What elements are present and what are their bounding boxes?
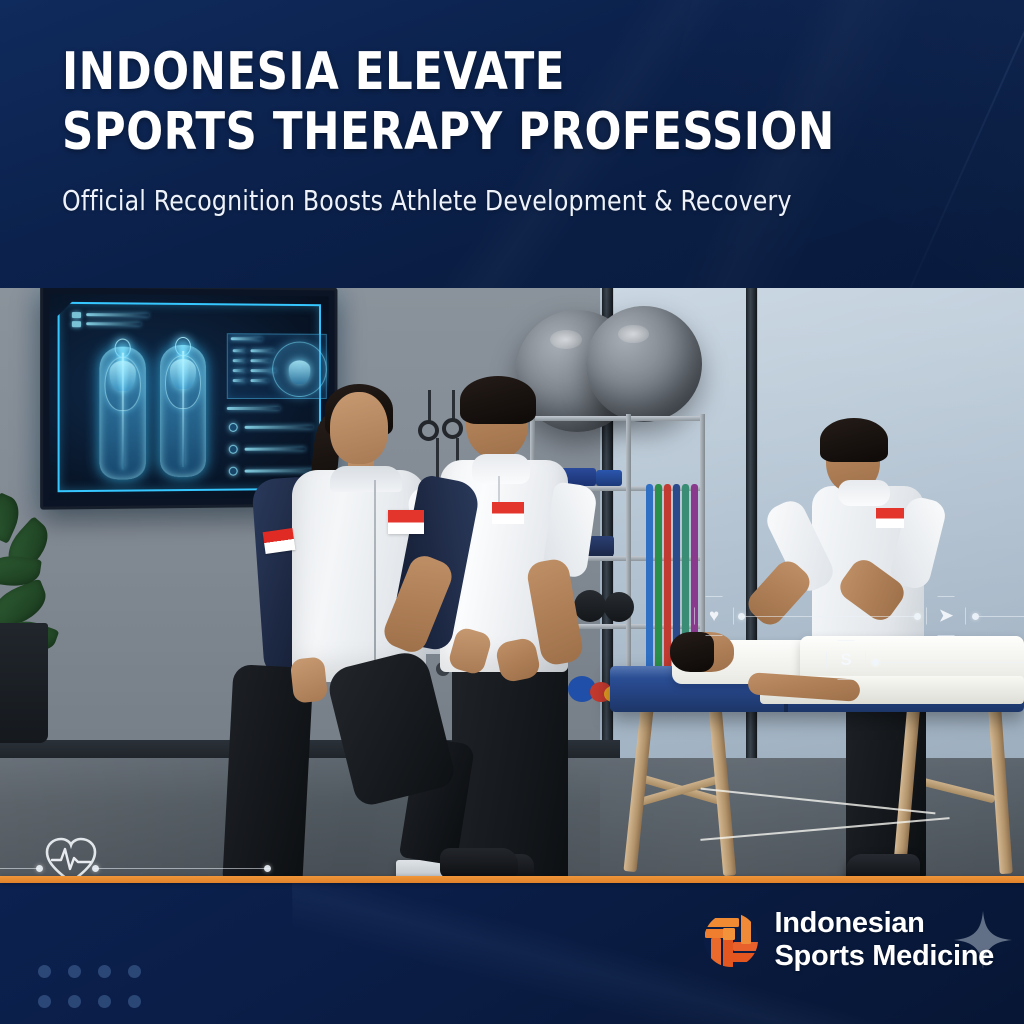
therapist-right-collar — [838, 480, 890, 506]
screen-vitals-row-1 — [233, 349, 247, 352]
screen-portrait-figure — [289, 360, 310, 384]
accent-divider — [0, 876, 1024, 883]
wall-hook-ring-2 — [442, 418, 463, 439]
screen-title-bar-1 — [86, 313, 149, 317]
screen-list-row-1 — [245, 426, 314, 429]
athlete-jacket-zipper — [374, 480, 376, 676]
dot — [128, 995, 141, 1008]
dot — [98, 965, 111, 978]
brand-line-2: Sports Medicine — [775, 940, 995, 973]
hero-photo: ∞ ♥ ➤ S — [0, 288, 1024, 876]
therapist-center-flag-patch — [492, 502, 524, 524]
screen-chip-1 — [72, 312, 81, 318]
shelf-weight-2 — [574, 590, 606, 622]
dot — [98, 995, 111, 1008]
subheadline: Official Recognition Boosts Athlete Deve… — [62, 184, 908, 218]
screen-vitals-row-2 — [233, 359, 247, 362]
athlete-chest-flag-patch — [388, 510, 424, 534]
footer-band: Indonesian Sports Medicine — [0, 883, 1024, 1024]
dot — [128, 965, 141, 978]
therapist-center-collar — [472, 454, 530, 484]
therapist-right-hair — [820, 418, 888, 462]
poster-root: INDONESIA ELEVATE SPORTS THERAPY PROFESS… — [0, 0, 1024, 1024]
shelf-bin-blue-2 — [596, 470, 622, 486]
weave-logo-icon — [703, 912, 759, 968]
window-mullion-2 — [746, 288, 757, 788]
screen-list-dot-3 — [229, 467, 238, 476]
anatomy-figure-2-torso — [170, 359, 196, 389]
brand-name: Indonesian Sports Medicine — [775, 907, 995, 973]
rack-post-mid — [626, 414, 631, 704]
resistance-band-green — [655, 484, 662, 684]
header-band: INDONESIA ELEVATE SPORTS THERAPY PROFESS… — [0, 0, 1024, 288]
patient-hair — [670, 632, 714, 672]
anatomy-figure-1 — [99, 347, 146, 480]
screen-vitals-row-3 — [233, 369, 247, 372]
therapist-center-hair — [460, 376, 536, 424]
anatomy-figure-1-torso — [110, 361, 136, 391]
screen-vitals-title — [231, 337, 263, 340]
headline-line-2: SPORTS THERAPY PROFESSION — [62, 102, 899, 162]
screen-portrait-scan — [272, 341, 327, 397]
dot — [68, 995, 81, 1008]
brand-logo-lockup[interactable]: Indonesian Sports Medicine — [703, 907, 995, 973]
headline-line-1: INDONESIA ELEVATE — [62, 42, 899, 102]
screen-list-dot-1 — [229, 423, 238, 432]
screen-chip-2 — [72, 321, 81, 327]
plant-pot — [0, 623, 48, 743]
screen-title-bar-2 — [86, 322, 141, 325]
athlete-left-hand — [290, 656, 328, 703]
screen-vitals-val-1 — [250, 349, 274, 352]
rack-shelf-top — [526, 416, 704, 421]
wall-hook-1 — [428, 390, 431, 424]
screen-vitals-val-4 — [250, 379, 268, 382]
therapist-right-shoe — [846, 854, 920, 876]
therapist-right-flag-patch — [876, 508, 904, 528]
screen-vitals-val-2 — [250, 359, 270, 362]
dot — [38, 965, 51, 978]
exercise-ball-2 — [586, 306, 702, 422]
decorative-dot-grid — [38, 965, 158, 1024]
title-block: INDONESIA ELEVATE SPORTS THERAPY PROFESS… — [62, 42, 962, 218]
athlete-sleeve-flag-patch — [263, 528, 296, 554]
dot — [68, 965, 81, 978]
screen-list-dot-2 — [229, 445, 238, 454]
athlete-head — [330, 392, 388, 464]
shelf-weight-3 — [604, 592, 634, 622]
athlete-shoe — [440, 848, 518, 876]
athlete-jacket-collar — [330, 466, 402, 492]
anatomy-figure-2 — [160, 345, 206, 477]
dot — [38, 995, 51, 1008]
resistance-band-blue — [646, 484, 653, 680]
screen-vitals-row-4 — [233, 379, 247, 382]
screen-surface — [49, 294, 328, 501]
screen-section-label — [227, 407, 280, 410]
screen-list-row-2 — [245, 447, 306, 450]
brand-line-1: Indonesian — [775, 907, 995, 940]
